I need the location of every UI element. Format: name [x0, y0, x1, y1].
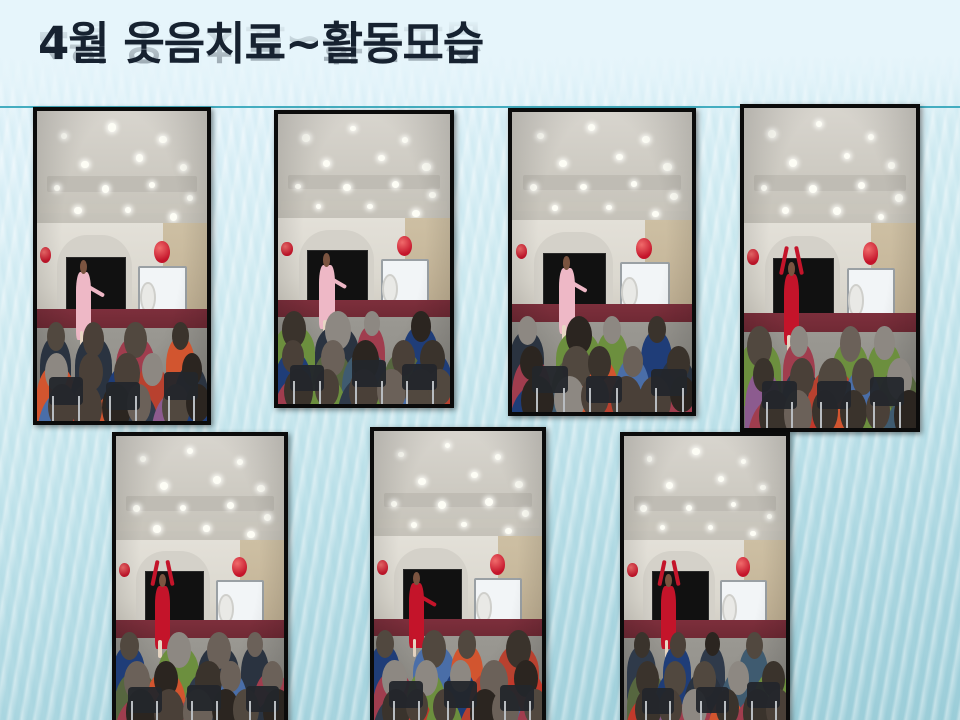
chair-leg — [669, 701, 671, 720]
chair-leg — [249, 701, 251, 720]
chair-leg — [78, 396, 80, 421]
chair-leg — [381, 381, 383, 404]
audience-head — [458, 630, 476, 658]
chair-leg — [504, 701, 506, 720]
chair-leg — [775, 701, 777, 720]
audience-head — [83, 322, 105, 357]
audience-head — [364, 311, 380, 335]
chair-leg — [899, 402, 901, 428]
chair-leg — [616, 388, 618, 412]
chair-leg — [274, 701, 276, 720]
slide-canvas: 4월 웃음치료~활동모습 4월 웃음치료~활동모습 — [0, 0, 960, 720]
chair-leg — [193, 396, 195, 421]
photo-content — [624, 436, 786, 720]
chair-leg — [529, 701, 531, 720]
audience-head — [247, 632, 263, 657]
chair-leg — [52, 396, 54, 421]
gallery-photo-7[interactable] — [620, 432, 790, 720]
audience-head — [142, 353, 162, 386]
gallery-photo-2[interactable] — [274, 110, 454, 408]
chair-leg — [700, 701, 702, 720]
gallery-photo-5[interactable] — [112, 432, 288, 720]
chair-leg — [589, 388, 591, 412]
audience-head — [120, 632, 139, 660]
audience-head — [648, 316, 666, 343]
chair-leg — [432, 381, 434, 404]
chair-leg — [655, 388, 657, 412]
chair-leg — [751, 701, 753, 720]
chair-leg — [645, 701, 647, 720]
audience-head — [746, 632, 763, 659]
chair-leg — [131, 701, 133, 720]
audience-head — [623, 346, 644, 377]
chair-leg — [319, 381, 321, 404]
gallery-photo-6[interactable] — [370, 427, 546, 720]
page-title: 4월 웃음치료~활동모습 — [38, 18, 658, 70]
audience-head — [172, 322, 189, 350]
chair-leg — [791, 402, 793, 428]
chair-leg — [135, 396, 137, 421]
chair-leg — [682, 388, 684, 412]
chair-leg — [191, 701, 193, 720]
chair-leg — [536, 388, 538, 412]
audience-head — [220, 661, 240, 692]
chair-leg — [724, 701, 726, 720]
chair-leg — [355, 381, 357, 404]
chair-leg — [156, 701, 158, 720]
chair-leg — [216, 701, 218, 720]
photo-content — [116, 436, 284, 720]
chair-leg — [766, 402, 768, 428]
photo-content — [37, 111, 207, 421]
audience-head — [705, 632, 720, 656]
photo-content — [744, 108, 916, 428]
chair-leg — [447, 701, 449, 720]
gallery-photo-1[interactable] — [33, 107, 211, 425]
chair-leg — [418, 701, 420, 720]
photo-content — [278, 114, 450, 404]
photo-content — [374, 431, 542, 720]
chair-leg — [293, 381, 295, 404]
chair-leg — [109, 396, 111, 421]
chair-leg — [406, 381, 408, 404]
chair-leg — [472, 701, 474, 720]
photo-content — [512, 112, 692, 412]
gallery-photo-4[interactable] — [740, 104, 920, 432]
chair-leg — [873, 402, 875, 428]
page-title-block: 4월 웃음치료~활동모습 4월 웃음치료~활동모습 — [38, 18, 658, 110]
chair-leg — [563, 388, 565, 412]
audience-head — [790, 326, 809, 357]
chair-leg — [846, 402, 848, 428]
audience-head — [670, 632, 686, 658]
chair-leg — [820, 402, 822, 428]
audience-head — [603, 316, 622, 344]
chair-leg — [393, 701, 395, 720]
audience-head — [47, 322, 65, 351]
gallery-photo-3[interactable] — [508, 108, 696, 416]
audience-head — [840, 326, 862, 362]
chair-leg — [168, 396, 170, 421]
